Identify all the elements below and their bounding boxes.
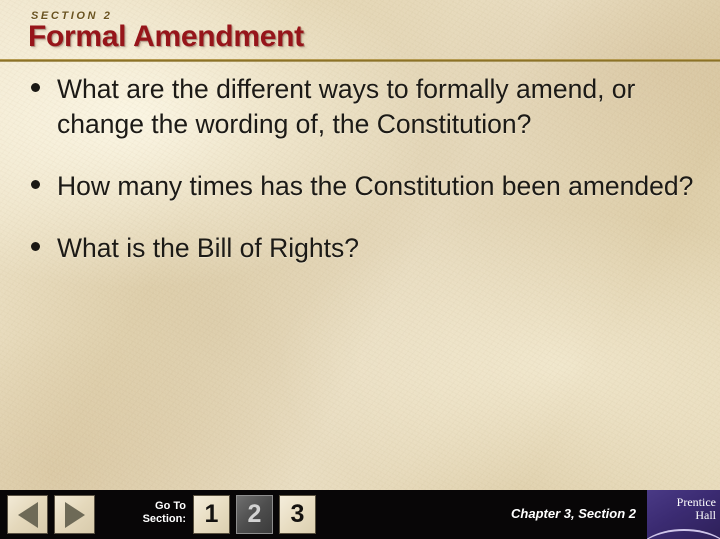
page-title: Formal Amendment [28,20,304,54]
prentice-hall-logo-text: Prentice Hall [647,496,716,522]
slide-footer-bar: Go To Section: 1 2 3 Chapter 3, Section … [0,490,720,539]
presentation-slide: SECTION 2 Formal Amendment What are the … [0,0,720,539]
section-button-2-label: 2 [248,500,262,529]
goto-section-label-line2: Section: [108,513,186,526]
goto-section-label: Go To Section: [108,500,186,526]
slide-header: SECTION 2 Formal Amendment [0,0,720,62]
bullet-item: How many times has the Constitution been… [0,169,720,204]
slide-body: What are the different ways to formally … [0,72,720,293]
triangle-right-icon [65,502,85,528]
bullet-text: What are the different ways to formally … [57,74,635,139]
triangle-left-icon [18,502,38,528]
previous-slide-button[interactable] [7,495,48,534]
title-divider-rule [0,59,720,62]
next-slide-button[interactable] [54,495,95,534]
bullet-text: How many times has the Constitution been… [57,171,693,201]
bullet-item: What are the different ways to formally … [0,72,720,142]
chapter-section-label: Chapter 3, Section 2 [511,506,636,521]
bullet-item: What is the Bill of Rights? [0,231,720,266]
bullet-dot-icon [31,83,40,92]
section-button-3-label: 3 [291,500,305,529]
section-button-1-label: 1 [205,500,219,529]
bullet-text: What is the Bill of Rights? [57,233,359,263]
goto-section-label-line1: Go To [108,500,186,513]
prentice-hall-logo-line2: Hall [647,509,716,522]
bullet-dot-icon [31,180,40,189]
section-button-1[interactable]: 1 [193,495,230,534]
prentice-hall-logo-arc-icon [647,529,720,539]
prentice-hall-logo: Prentice Hall [647,490,720,539]
section-button-3[interactable]: 3 [279,495,316,534]
bullet-dot-icon [31,242,40,251]
section-button-2[interactable]: 2 [236,495,273,534]
